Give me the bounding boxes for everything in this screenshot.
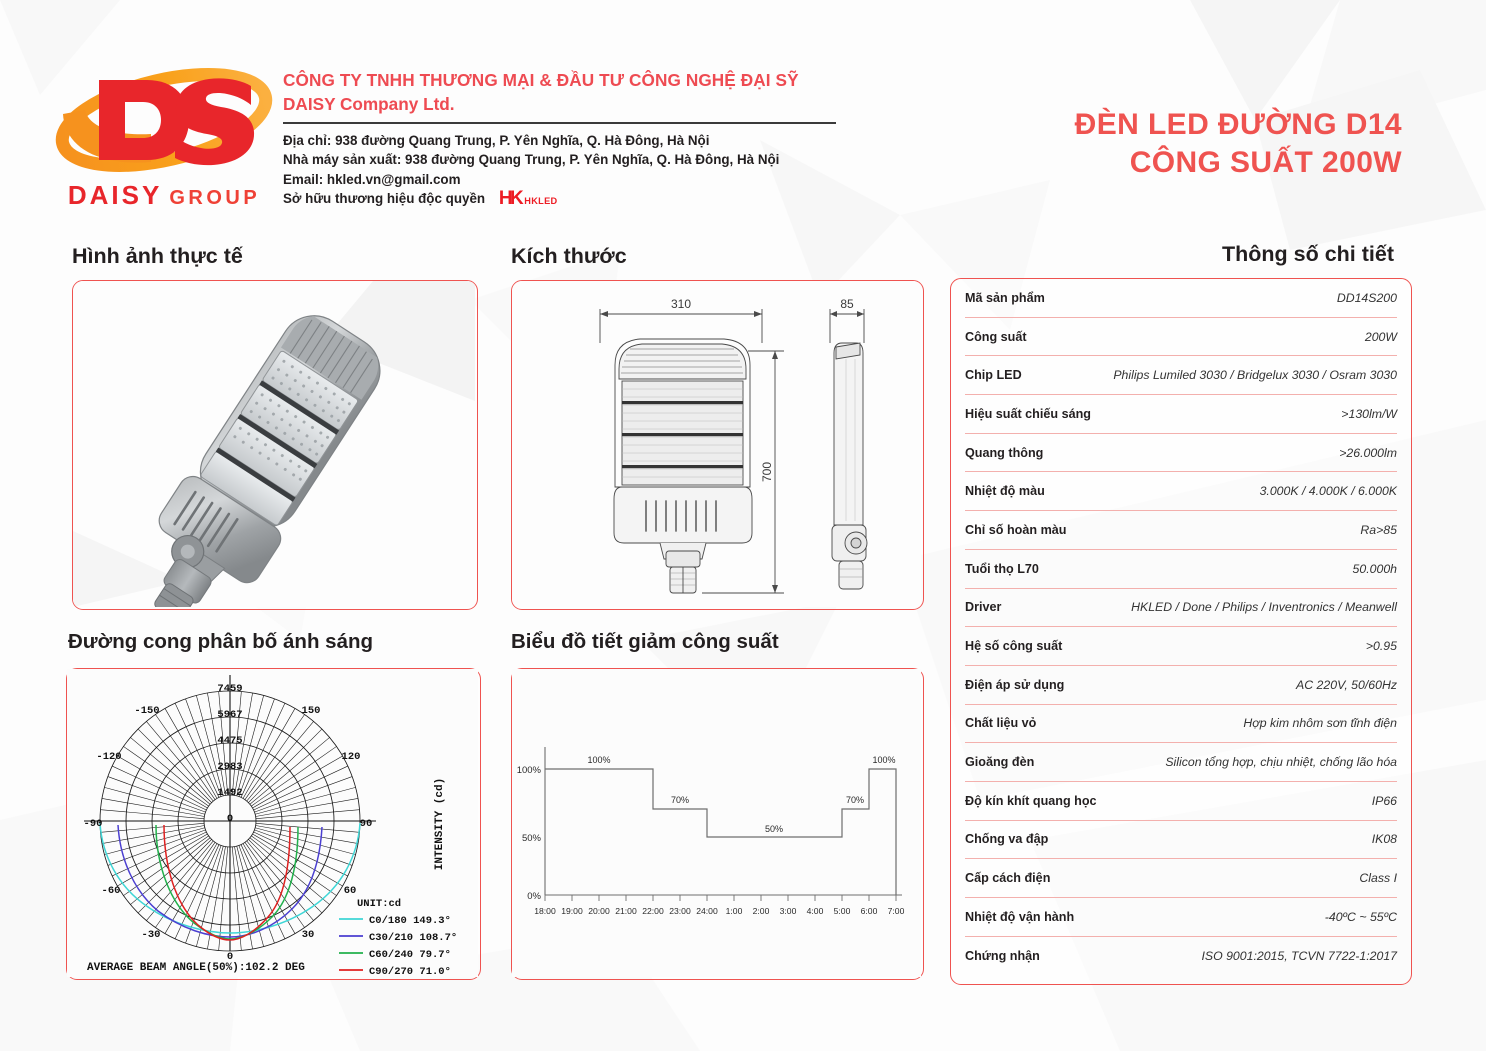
product-photo-card [72, 280, 478, 610]
spec-key: Công suất [965, 330, 1027, 344]
spec-row: Độ kín khít quang họcIP66 [965, 782, 1397, 821]
svg-text:50%: 50% [522, 833, 542, 844]
product-title-line2: CÔNG SUẤT 200W [1075, 144, 1402, 182]
spec-value: Silicon tổng hợp, chịu nhiệt, chống lão … [1042, 755, 1397, 769]
spec-key: Tuổi thọ L70 [965, 562, 1039, 576]
svg-text:19:00: 19:00 [561, 906, 583, 916]
svg-text:-120: -120 [96, 751, 121, 763]
spec-value: Hợp kim nhôm sơn tĩnh điện [1044, 716, 1397, 730]
spec-row: Tuổi thọ L7050.000h [965, 550, 1397, 589]
spec-value: 200W [1035, 330, 1397, 344]
svg-text:-150: -150 [134, 705, 159, 717]
spec-row: Gioăng đènSilicon tổng hợp, chịu nhiệt, … [965, 743, 1397, 782]
spec-value: ISO 9001:2015, TCVN 7722-1:2017 [1048, 949, 1397, 963]
product-title-line1: ĐÈN LED ĐƯỜNG D14 [1075, 106, 1402, 144]
page-header: DAISYGROUP CÔNG TY TNHH THƯƠNG MẠI & ĐẦU… [0, 0, 1486, 230]
svg-text:50%: 50% [765, 824, 783, 834]
dim-depth-label: 85 [840, 297, 854, 311]
spec-value: >130lm/W [1099, 407, 1397, 421]
company-email: Email: hkled.vn@gmail.com [283, 170, 863, 190]
spec-row: Cấp cách điệnClass I [965, 859, 1397, 898]
spec-row: Chứng nhậnISO 9001:2015, TCVN 7722-1:201… [965, 937, 1397, 976]
spec-row: Mã sản phẩmDD14S200 [965, 279, 1397, 318]
svg-text:21:00: 21:00 [615, 906, 637, 916]
ds-logo-mark [55, 62, 273, 182]
header-divider [283, 122, 836, 124]
spec-value: >26.000lm [1051, 446, 1397, 460]
spec-table: Mã sản phẩmDD14S200Công suất200WChip LED… [950, 278, 1412, 985]
spec-row: Chống va đậpIK08 [965, 821, 1397, 860]
spec-row: Điện áp sử dụngAC 220V, 50/60Hz [965, 666, 1397, 705]
hkled-text: HKLED [524, 192, 557, 212]
svg-text:6:00: 6:00 [861, 906, 878, 916]
spec-value: DD14S200 [1053, 291, 1397, 305]
spec-value: IK08 [1056, 832, 1397, 846]
logo-group-text: GROUP [169, 187, 260, 209]
svg-text:20:00: 20:00 [588, 906, 610, 916]
svg-text:18:00: 18:00 [534, 906, 556, 916]
company-factory: Nhà máy sản xuất: 938 đường Quang Trung,… [283, 150, 863, 170]
spec-key: Chất liệu vỏ [965, 716, 1036, 730]
spec-value: 50.000h [1047, 562, 1397, 576]
svg-text:100%: 100% [872, 755, 895, 765]
spec-value: IP66 [1105, 794, 1397, 808]
company-name-vi: CÔNG TY TNHH THƯƠNG MẠI & ĐẦU TƯ CÔNG NG… [283, 68, 863, 92]
spec-value: -40ºC ~ 55ºC [1082, 910, 1397, 924]
dim-height-label: 700 [760, 462, 774, 482]
svg-text:1492: 1492 [217, 787, 242, 799]
product-title: ĐÈN LED ĐƯỜNG D14 CÔNG SUẤT 200W [1075, 106, 1402, 182]
spec-key: Hệ số công suất [965, 639, 1062, 653]
svg-text:70%: 70% [671, 795, 689, 805]
svg-text:C60/240 79.7°: C60/240 79.7° [369, 949, 451, 961]
spec-key: Chứng nhận [965, 949, 1040, 963]
spec-key: Nhiệt độ màu [965, 484, 1045, 498]
spec-value: Ra>85 [1074, 523, 1397, 537]
spec-value: Class I [1058, 871, 1397, 885]
spec-value: >0.95 [1070, 639, 1397, 653]
polar-footer-label: AVERAGE BEAM ANGLE(50%):102.2 DEG [87, 962, 305, 974]
svg-text:100%: 100% [587, 755, 610, 765]
svg-text:22:00: 22:00 [642, 906, 664, 916]
svg-text:4475: 4475 [217, 735, 242, 747]
dimensions-card: 310 85 700 [511, 280, 924, 610]
svg-text:1:00: 1:00 [726, 906, 743, 916]
company-info-block: CÔNG TY TNHH THƯƠNG MẠI & ĐẦU TƯ CÔNG NG… [283, 68, 863, 212]
svg-text:5967: 5967 [217, 709, 242, 721]
svg-text:7:00: 7:00 [888, 906, 905, 916]
spec-row: Quang thông>26.000lm [965, 434, 1397, 473]
svg-text:C90/270 71.0°: C90/270 71.0° [369, 966, 451, 977]
spec-key: Cấp cách điện [965, 871, 1050, 885]
spec-key: Mã sản phẩm [965, 291, 1045, 305]
hkled-glyph: HK [499, 189, 521, 209]
spec-key: Gioăng đèn [965, 755, 1034, 769]
svg-text:C0/180 149.3°: C0/180 149.3° [369, 915, 451, 927]
power-dimming-chart: 100% 50% 0% 100% 70% 50% 70% 100% 18:00 … [512, 669, 921, 977]
spec-row: Công suất200W [965, 318, 1397, 357]
product-photo-streetlight [73, 281, 475, 607]
spec-key: Hiệu suất chiếu sáng [965, 407, 1091, 421]
company-logo: DAISYGROUP [55, 62, 273, 212]
spec-value: AC 220V, 50/60Hz [1072, 678, 1397, 692]
polar-unit-label: UNIT:cd [357, 898, 401, 910]
svg-text:4:00: 4:00 [807, 906, 824, 916]
spec-row: Hiệu suất chiếu sáng>130lm/W [965, 395, 1397, 434]
spec-row: Nhiệt độ màu3.000K / 4.000K / 6.000K [965, 472, 1397, 511]
spec-value: Philips Lumiled 3030 / Bridgelux 3030 / … [1030, 368, 1397, 382]
dim-width-label: 310 [671, 297, 691, 311]
svg-text:2983: 2983 [217, 761, 242, 773]
logo-daisy-text: DAISY [68, 180, 162, 210]
svg-text:7459: 7459 [217, 683, 242, 695]
hkled-logo: HK HKLED [499, 189, 558, 212]
heading-power-chart: Biểu đồ tiết giảm công suất [511, 630, 779, 654]
dimensions-drawing: 310 85 700 [512, 281, 921, 607]
heading-spec-table: Thông số chi tiết [1222, 242, 1394, 267]
polar-light-distribution-chart: 7459 5967 4475 2983 1492 0 -150 150 -120… [67, 669, 478, 977]
heading-light-curve: Đường cong phân bố ánh sáng [68, 630, 373, 654]
heading-photo: Hình ảnh thực tế [72, 244, 243, 269]
svg-text:-60: -60 [102, 885, 121, 897]
spec-value: HKLED / Done / Philips / Inventronics / … [1009, 600, 1397, 614]
brand-ownership-label: Sở hữu thương hiệu độc quyền [283, 191, 485, 206]
polar-ylabel: INTENSITY (cd) [434, 778, 446, 870]
svg-text:5:00: 5:00 [834, 906, 851, 916]
svg-text:70%: 70% [846, 795, 864, 805]
svg-text:C30/210 108.7°: C30/210 108.7° [369, 932, 457, 944]
brand-ownership-line: Sở hữu thương hiệu độc quyền HK HKLED [283, 189, 863, 212]
spec-row: Chất liệu vỏHợp kim nhôm sơn tĩnh điện [965, 705, 1397, 744]
svg-text:-30: -30 [142, 929, 161, 941]
logo-wordmark: DAISYGROUP [55, 180, 273, 211]
company-address: Địa chỉ: 938 đường Quang Trung, P. Yên N… [283, 131, 863, 151]
datasheet-page: DAISYGROUP CÔNG TY TNHH THƯƠNG MẠI & ĐẦU… [0, 0, 1486, 1051]
spec-key: Điện áp sử dụng [965, 678, 1064, 692]
power-dimming-card: 100% 50% 0% 100% 70% 50% 70% 100% 18:00 … [511, 668, 924, 980]
spec-key: Quang thông [965, 446, 1043, 460]
spec-row: Chỉ số hoàn màuRa>85 [965, 511, 1397, 550]
svg-text:90: 90 [360, 818, 373, 830]
svg-text:0: 0 [227, 813, 233, 825]
svg-text:60: 60 [344, 885, 357, 897]
heading-dimensions: Kích thước [511, 244, 627, 269]
company-name-en: DAISY Company Ltd. [283, 92, 863, 117]
spec-key: Độ kín khít quang học [965, 794, 1097, 808]
svg-text:23:00: 23:00 [669, 906, 691, 916]
svg-text:0%: 0% [527, 891, 541, 902]
svg-text:3:00: 3:00 [780, 906, 797, 916]
svg-text:100%: 100% [517, 765, 542, 776]
spec-key: Chống va đập [965, 832, 1048, 846]
spec-key: Chỉ số hoàn màu [965, 523, 1066, 537]
svg-text:150: 150 [302, 705, 321, 717]
spec-value: 3.000K / 4.000K / 6.000K [1053, 484, 1397, 498]
svg-text:24:00: 24:00 [696, 906, 718, 916]
svg-text:2:00: 2:00 [753, 906, 770, 916]
svg-text:120: 120 [342, 751, 361, 763]
spec-row: DriverHKLED / Done / Philips / Inventron… [965, 589, 1397, 628]
spec-key: Driver [965, 600, 1001, 614]
spec-key: Nhiệt độ vận hành [965, 910, 1074, 924]
spec-row: Nhiệt độ vận hành-40ºC ~ 55ºC [965, 898, 1397, 937]
svg-text:-90: -90 [84, 818, 103, 830]
spec-key: Chip LED [965, 368, 1022, 382]
svg-text:30: 30 [302, 929, 315, 941]
spec-row: Chip LEDPhilips Lumiled 3030 / Bridgelux… [965, 356, 1397, 395]
spec-row: Hệ số công suất>0.95 [965, 627, 1397, 666]
light-distribution-card: 7459 5967 4475 2983 1492 0 -150 150 -120… [66, 668, 481, 980]
